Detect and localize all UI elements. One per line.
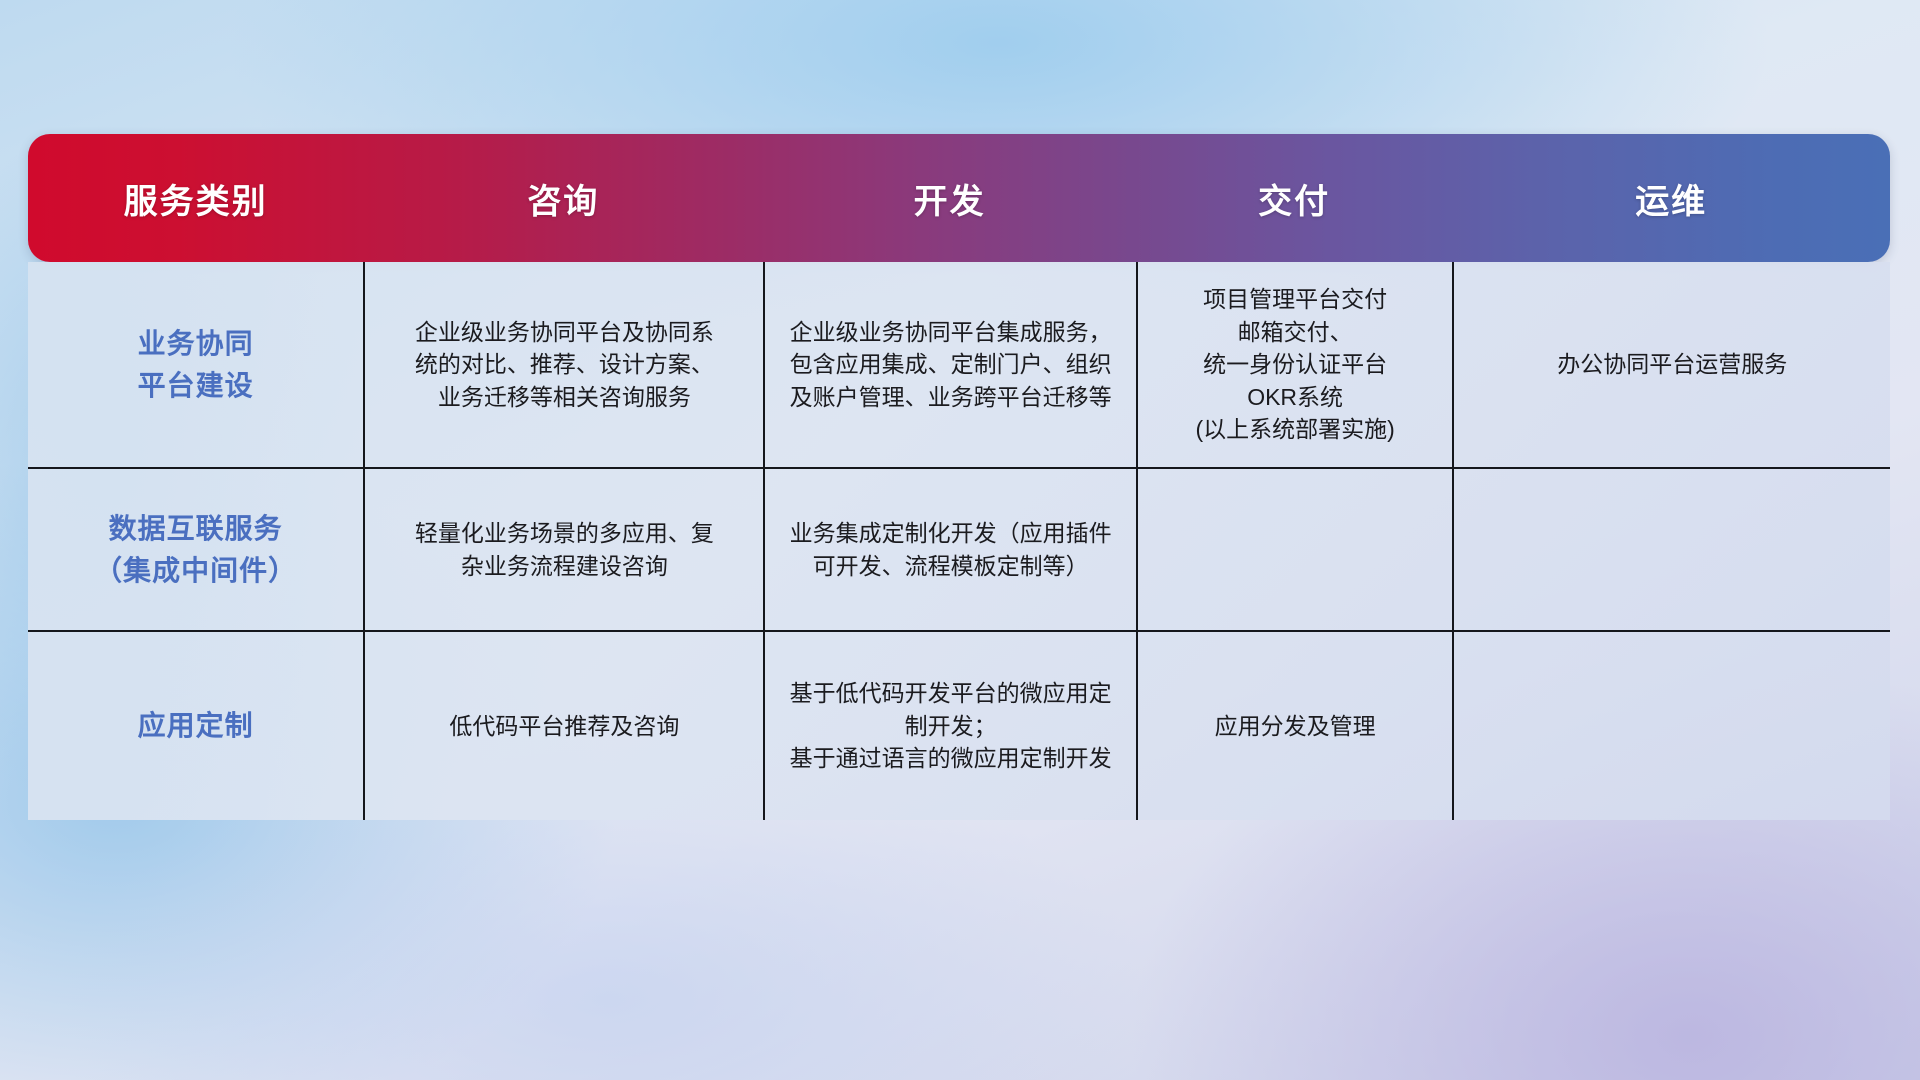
header-label-delivery: 交付 [1258,174,1330,223]
cell-development: 业务集成定制化开发（应用插件 可开发、流程模板定制等） [763,469,1135,630]
cell-development: 企业级业务协同平台集成服务， 包含应用集成、定制门户、组织 及账户管理、业务跨平… [763,262,1135,467]
cell-consulting: 低代码平台推荐及咨询 [363,632,763,820]
header-label-development: 开发 [914,174,986,223]
header-cell-delivery: 交付 [1136,134,1453,262]
header-cell-consulting: 咨询 [363,134,763,262]
header-label-consulting: 咨询 [527,174,599,223]
header-cell-operations: 运维 [1452,134,1890,262]
table-row: 数据互联服务 （集成中间件） 轻量化业务场景的多应用、复 杂业务流程建设咨询 业… [28,467,1890,630]
header-cell-development: 开发 [763,134,1135,262]
cell-operations: 办公协同平台运营服务 [1452,262,1890,467]
cell-operations [1452,632,1890,820]
table-row: 应用定制 低代码平台推荐及咨询 基于低代码开发平台的微应用定 制开发； 基于通过… [28,630,1890,820]
table-body: 业务协同 平台建设 企业级业务协同平台及协同系 统的对比、推荐、设计方案、 业务… [28,262,1890,820]
cell-consulting: 企业级业务协同平台及协同系 统的对比、推荐、设计方案、 业务迁移等相关咨询服务 [363,262,763,467]
cell-delivery [1136,469,1453,630]
table-row: 业务协同 平台建设 企业级业务协同平台及协同系 统的对比、推荐、设计方案、 业务… [28,262,1890,467]
cell-development: 基于低代码开发平台的微应用定 制开发； 基于通过语言的微应用定制开发 [763,632,1135,820]
cell-delivery: 项目管理平台交付 邮箱交付、 统一身份认证平台 OKR系统 (以上系统部署实施) [1136,262,1453,467]
header-label-operations: 运维 [1635,174,1707,223]
header-cell-service-category: 服务类别 [28,134,363,262]
header-label-service-category: 服务类别 [124,174,268,223]
row-category-label: 数据互联服务 （集成中间件） [28,469,363,630]
cell-consulting: 轻量化业务场景的多应用、复 杂业务流程建设咨询 [363,469,763,630]
cell-operations [1452,469,1890,630]
table-header-row: 服务类别 咨询 开发 交付 运维 [28,134,1890,262]
row-category-label: 业务协同 平台建设 [28,262,363,467]
row-category-label: 应用定制 [28,632,363,820]
cell-delivery: 应用分发及管理 [1136,632,1453,820]
service-matrix-table: 服务类别 咨询 开发 交付 运维 业务协同 平台建设 企业级业务协同平台及协同系… [28,134,1890,820]
